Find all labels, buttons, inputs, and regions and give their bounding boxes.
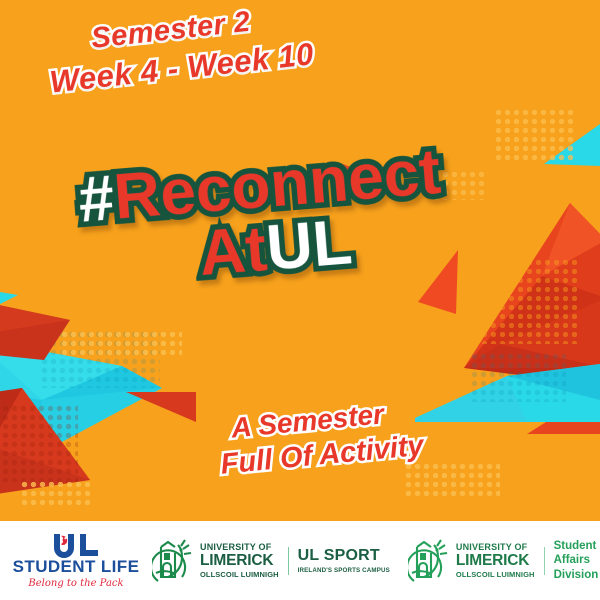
logo-divider-1 xyxy=(288,547,289,575)
logo-divider-2 xyxy=(544,547,545,575)
sad-line-2: Affairs xyxy=(554,553,599,567)
cyan-speck-top-left xyxy=(0,292,18,304)
student-life-name: STUDENT LIFE xyxy=(13,558,140,575)
poster: Semester 2 Week 4 - Week 10 #Reconnect A… xyxy=(0,0,600,600)
red-triangle-left-strip xyxy=(126,392,196,422)
headline-at: At xyxy=(196,212,269,289)
cyan-right-halftone-dots xyxy=(470,352,566,402)
logo-university-of-limerick-sport: UNIVERSITY OF LIMERICK OLLSCOIL LUIMNIGH… xyxy=(152,537,390,585)
bottom-right-halftone-dots xyxy=(404,462,500,496)
sad-line-1: Student xyxy=(554,539,599,553)
mid-left-halftone-dots xyxy=(60,330,182,356)
ul-crest-icon xyxy=(152,537,196,585)
footer-logo-bar: STUDENT LIFE Belong to the Pack UNIV xyxy=(0,521,600,600)
sad-line-university-of: UNIVERSITY OF xyxy=(456,543,535,552)
sad-line-ollscoil: OLLSCOIL LUIMNIGH xyxy=(456,571,535,579)
logo-student-affairs-division: UNIVERSITY OF LIMERICK OLLSCOIL LUIMNIGH… xyxy=(408,537,598,585)
dark-red-halftone-dots xyxy=(0,404,78,482)
student-life-tagline: Belong to the Pack xyxy=(28,578,123,589)
ul-line-university-of: UNIVERSITY OF xyxy=(200,543,279,552)
sad-line-limerick: LIMERICK xyxy=(456,553,535,569)
ul-sport-name: UL SPORT xyxy=(298,548,390,564)
student-affairs-block: Student Affairs Division xyxy=(554,539,599,581)
logo-ul-student-life: STUDENT LIFE Belong to the Pack xyxy=(0,532,152,589)
top-right-halftone-dots xyxy=(494,108,574,162)
sad-line-3: Division xyxy=(554,568,599,582)
headline-hash: # xyxy=(76,161,117,236)
ul-line-ollscoil: OLLSCOIL LUIMNIGH xyxy=(200,571,279,579)
bottom-left-halftone-dots xyxy=(20,480,90,506)
tagline-heading: A Semester Full Of Activity xyxy=(216,395,425,482)
headline-ul: UL xyxy=(264,206,355,285)
ul-line-limerick: LIMERICK xyxy=(200,553,279,569)
ul-crest-icon-2 xyxy=(408,537,452,585)
ul-student-life-monogram-icon xyxy=(50,532,102,558)
poster-artwork: Semester 2 Week 4 - Week 10 #Reconnect A… xyxy=(0,0,600,521)
ul-sport-tagline: IRELAND'S SPORTS CAMPUS xyxy=(298,567,390,574)
semester-heading: Semester 2 Week 4 - Week 10 xyxy=(44,0,316,101)
gem-halftone-dots xyxy=(462,258,580,344)
